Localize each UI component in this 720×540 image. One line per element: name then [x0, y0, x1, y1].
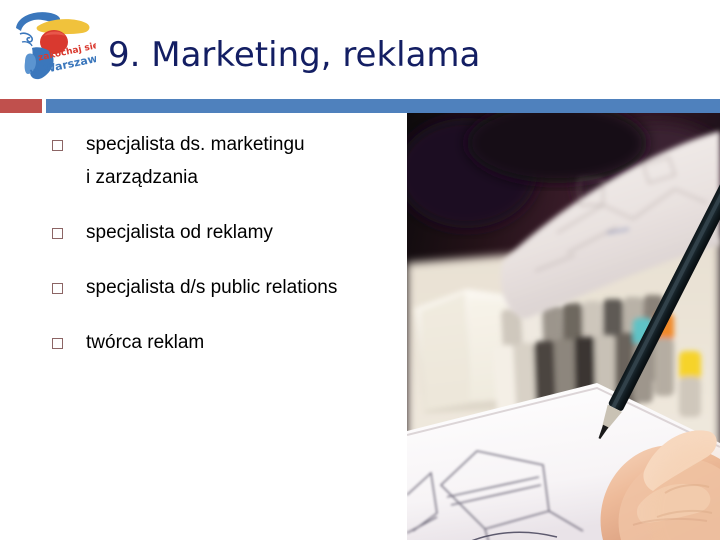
square-bullet-icon [52, 283, 63, 294]
list-item: specjalista d/s public relations [52, 271, 404, 304]
list-item-line-1: specjalista d/s public relations [86, 271, 404, 304]
page-title: 9. Marketing, reklama [108, 34, 480, 76]
list-item-text: specjalista ds. marketingu i zarządzania [63, 128, 404, 194]
list-item: specjalista ds. marketingu i zarządzania [52, 128, 404, 194]
slide: zakochaj się w Warszawie 9. Marketing, r… [0, 0, 720, 540]
divider-bar-red [0, 99, 42, 113]
square-bullet-icon [52, 338, 63, 349]
list-item-text: twórca reklam [63, 326, 404, 359]
list-item: specjalista od reklamy [52, 216, 404, 249]
zakochaj-sie-w-warszawie-logo: zakochaj się w Warszawie [8, 6, 96, 86]
list-item-text: specjalista d/s public relations [63, 271, 404, 304]
list-item-text: specjalista od reklamy [63, 216, 404, 249]
hand-sketching-with-pencil-photo [407, 113, 720, 540]
list-item-line-1: specjalista od reklamy [86, 216, 404, 249]
square-bullet-icon [52, 228, 63, 239]
list-item-line-1: twórca reklam [86, 326, 404, 359]
square-bullet-icon [52, 140, 63, 151]
list-item: twórca reklam [52, 326, 404, 359]
bullet-list: specjalista ds. marketingu i zarządzania… [52, 128, 404, 381]
slide-header: zakochaj się w Warszawie 9. Marketing, r… [0, 0, 720, 99]
list-item-line-2: i zarządzania [86, 161, 404, 194]
divider-bar-blue [46, 99, 720, 113]
list-item-line-1: specjalista ds. marketingu [86, 128, 404, 161]
